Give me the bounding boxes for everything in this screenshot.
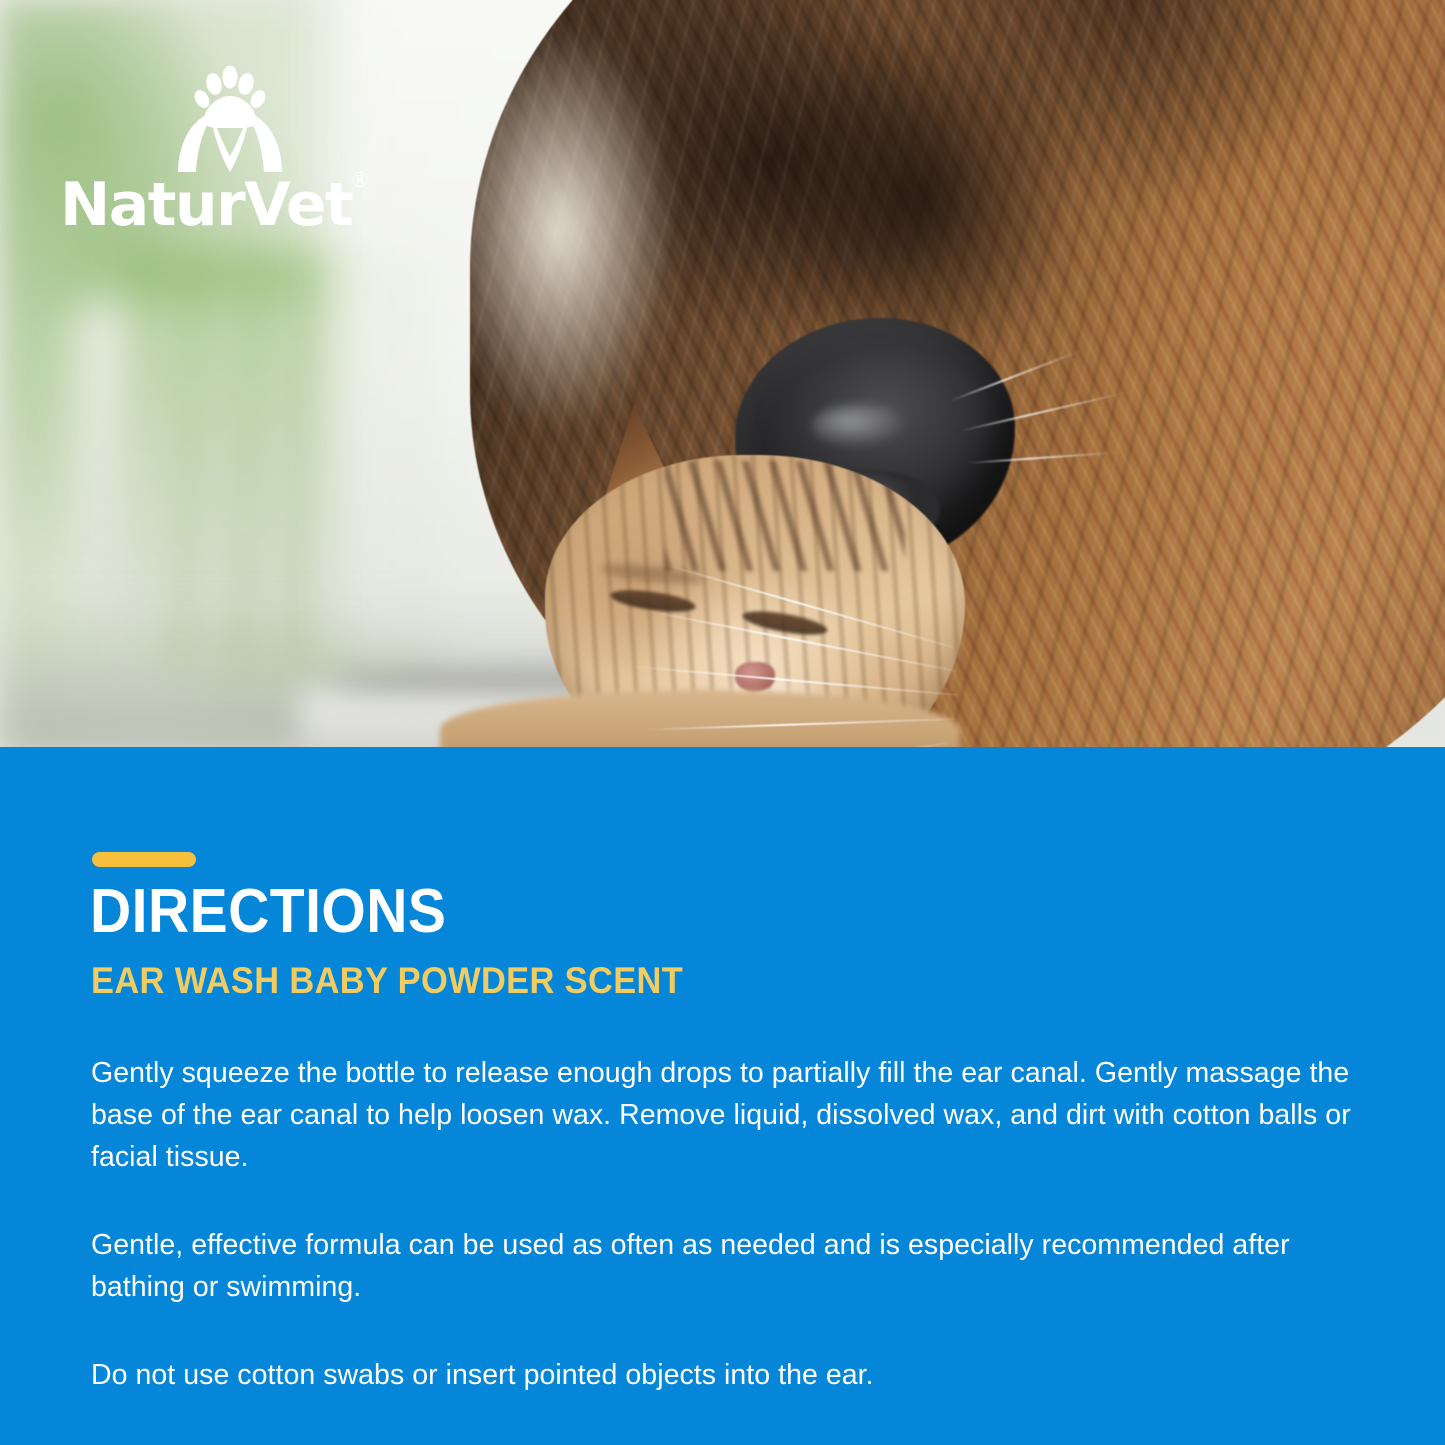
paw-grass-icon	[170, 66, 290, 176]
naturvet-logo: NaturVet ®	[60, 66, 370, 236]
product-subtitle: EAR WASH BABY POWDER SCENT	[91, 959, 683, 1003]
directions-paragraph: Do not use cotton swabs or insert pointe…	[91, 1354, 1353, 1396]
directions-paragraph: Gently squeeze the bottle to release eno…	[91, 1052, 1353, 1178]
accent-bar	[92, 852, 196, 867]
page-title: DIRECTIONS	[90, 878, 446, 946]
directions-body: Gently squeeze the bottle to release eno…	[91, 1052, 1353, 1396]
dog-nose-highlight	[812, 404, 908, 448]
cat-forehead-stripes	[665, 461, 905, 571]
cat-nose	[735, 662, 775, 692]
product-directions-image: NaturVet ® DIRECTIONS EAR WASH BABY POWD…	[0, 0, 1445, 1445]
registered-trademark-mark: ®	[350, 170, 370, 190]
hero-photo: NaturVet ®	[0, 0, 1445, 747]
directions-panel: DIRECTIONS EAR WASH BABY POWDER SCENT Ge…	[0, 747, 1445, 1445]
directions-paragraph: Gentle, effective formula can be used as…	[91, 1224, 1353, 1308]
logo-wordmark-text: NaturVet	[60, 170, 352, 240]
logo-wordmark: NaturVet	[60, 174, 370, 236]
